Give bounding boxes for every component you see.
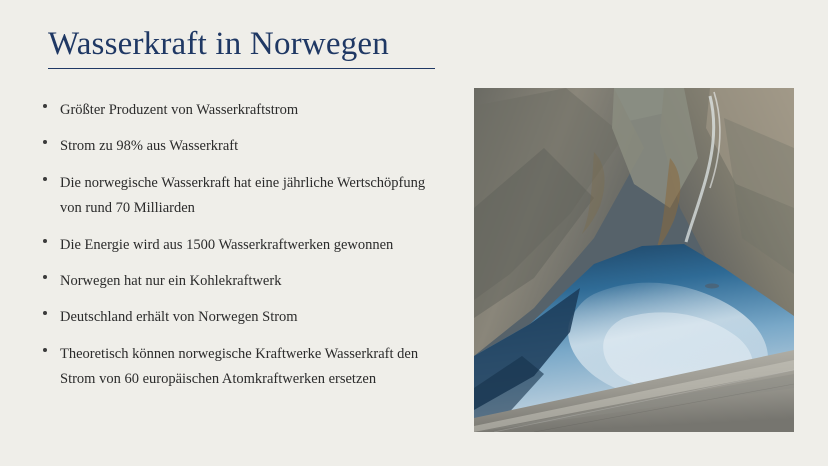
list-item-text: Strom zu 98% aus Wasserkraft: [60, 138, 238, 154]
list-item-text: Deutschland erhält von Norwegen Strom: [60, 309, 298, 325]
bullet-dot-icon: [43, 140, 47, 144]
photo-mountain-lake-dam: [474, 88, 794, 432]
bullet-dot-icon: [43, 311, 47, 315]
list-item: Die norwegische Wasserkraft hat eine jäh…: [40, 171, 440, 222]
list-item: Die Energie wird aus 1500 Wasserkraftwer…: [40, 233, 440, 258]
bullet-list: Größter Produzent von Wasserkraftstrom S…: [40, 98, 440, 403]
list-item: Größter Produzent von Wasserkraftstrom: [40, 98, 440, 123]
list-item: Deutschland erhält von Norwegen Strom: [40, 305, 440, 330]
list-item: Theoretisch können norwegische Kraftwerk…: [40, 342, 440, 393]
list-item: Norwegen hat nur ein Kohlekraftwerk: [40, 269, 440, 294]
list-item-text: Größter Produzent von Wasserkraftstrom: [60, 102, 298, 118]
bullet-dot-icon: [43, 177, 47, 181]
bullet-dot-icon: [43, 239, 47, 243]
bullet-dot-icon: [43, 104, 47, 108]
list-item-text: Theoretisch können norwegische Kraftwerk…: [60, 346, 418, 387]
bullet-dot-icon: [43, 348, 47, 352]
list-item-text: Die Energie wird aus 1500 Wasserkraftwer…: [60, 237, 393, 253]
bullet-dot-icon: [43, 275, 47, 279]
title-underline: [48, 68, 435, 69]
list-item: Strom zu 98% aus Wasserkraft: [40, 134, 440, 159]
slide: Wasserkraft in Norwegen Größter Produzen…: [0, 0, 828, 466]
list-item-text: Norwegen hat nur ein Kohlekraftwerk: [60, 273, 281, 289]
list-item-text: Die norwegische Wasserkraft hat eine jäh…: [60, 175, 425, 216]
page-title: Wasserkraft in Norwegen: [48, 26, 389, 63]
